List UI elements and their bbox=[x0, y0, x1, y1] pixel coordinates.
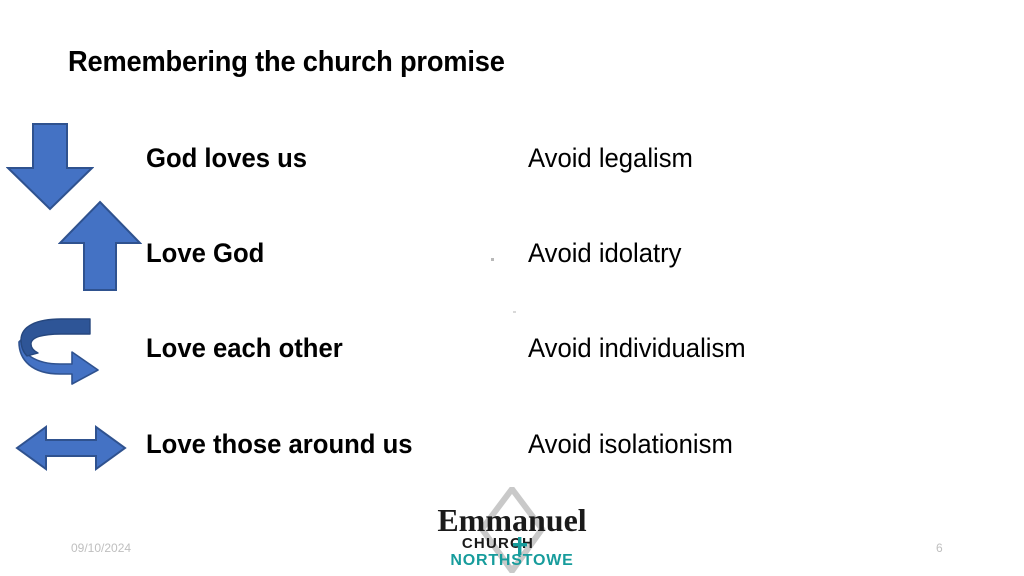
presentation-slide: Remembering the church promise God loves… bbox=[0, 0, 1024, 576]
promise-label-2: Love God bbox=[146, 238, 264, 269]
promise-label-4: Love those around us bbox=[146, 429, 413, 460]
avoid-label-2: Avoid idolatry bbox=[528, 238, 682, 269]
up-arrow-icon bbox=[58, 199, 142, 293]
footer-date: 09/10/2024 bbox=[71, 541, 131, 555]
double-headed-arrow-icon bbox=[14, 424, 128, 472]
stray-mark bbox=[513, 311, 516, 313]
slide-number: 6 bbox=[936, 541, 943, 555]
emmanuel-church-logo: Emmanuel CHURCH NORTHSTOWE bbox=[414, 487, 610, 573]
avoid-label-1: Avoid legalism bbox=[528, 143, 693, 174]
promise-label-3: Love each other bbox=[146, 333, 343, 364]
page-title: Remembering the church promise bbox=[68, 46, 505, 79]
stray-mark bbox=[491, 258, 494, 261]
logo-line3: NORTHSTOWE bbox=[450, 552, 573, 569]
circular-arrow-icon bbox=[18, 318, 110, 386]
logo-wordmark: Emmanuel bbox=[437, 502, 586, 538]
promise-label-1: God loves us bbox=[146, 143, 307, 174]
avoid-label-4: Avoid isolationism bbox=[528, 429, 733, 460]
avoid-label-3: Avoid individualism bbox=[528, 333, 746, 364]
